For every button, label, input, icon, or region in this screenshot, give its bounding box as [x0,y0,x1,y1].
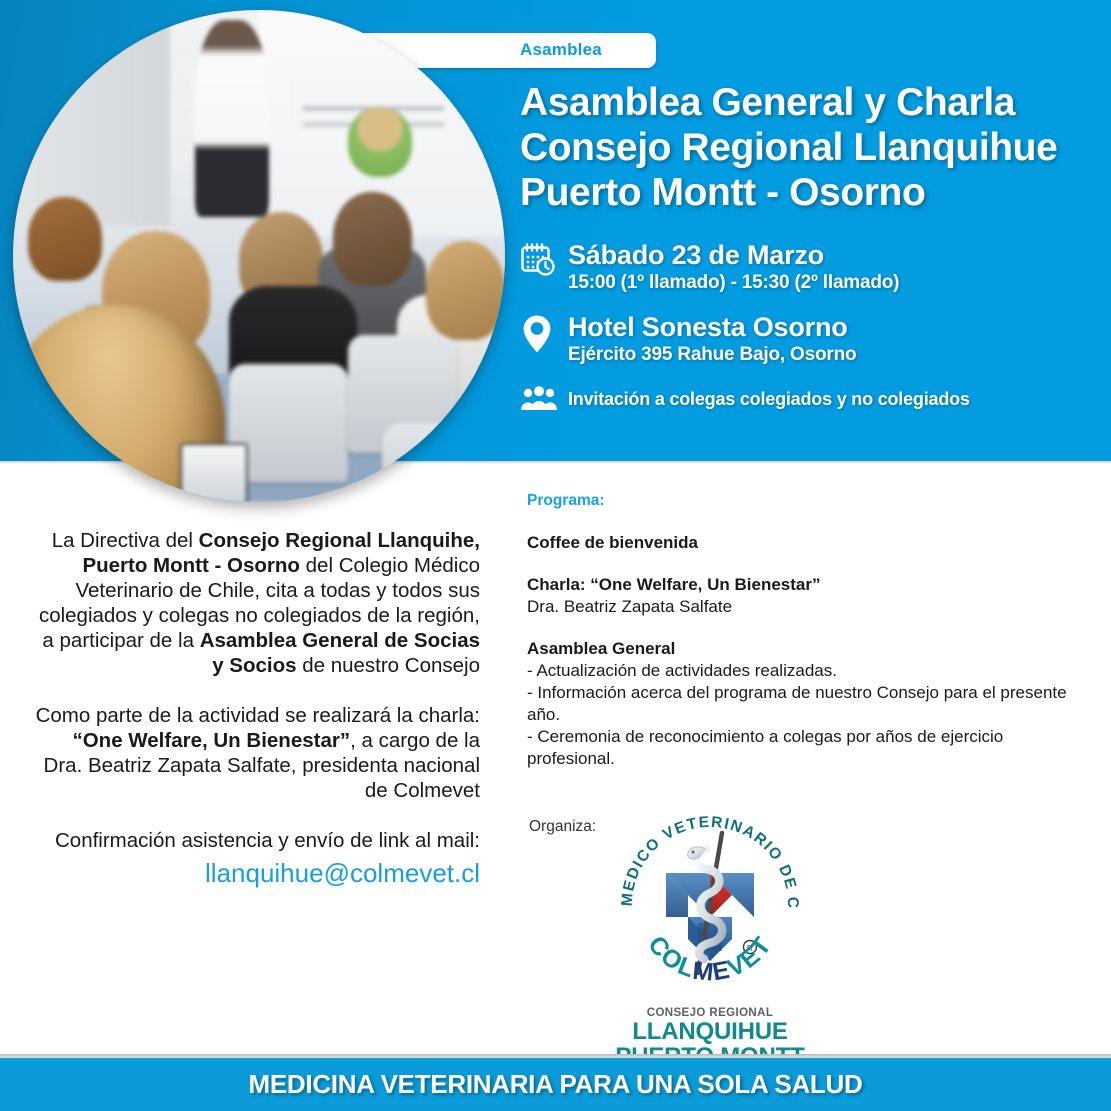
program-item-2-speaker: Dra. Beatriz Zapata Salfate [527,596,1067,618]
event-photo-scene [13,10,505,502]
calendar-clock-icon [520,240,568,278]
photo-smartphone [180,443,248,502]
program-heading: Programa: [527,492,1067,510]
event-venue-row: Hotel Sonesta Osorno Ejército 395 Rahue … [520,312,1110,367]
program-section: Programa: Coffee de bienvenida Charla: “… [527,492,1067,790]
p1-part-a: La Directiva del [52,529,199,552]
asamblea-badge-label: Asamblea [520,40,720,60]
location-pin-icon [520,312,568,354]
program-item-1: Coffee de bienvenida [527,532,1067,554]
program-item-3-bullet-2: - Información acerca del programa de nue… [527,682,1067,726]
event-date-sub: 15:00 (1º llamado) - 15:30 (2º llamado) [568,271,899,295]
program-item-3: Asamblea General - Actualización de acti… [527,638,1067,770]
event-audience-text: Invitación a colegas colegiados y no col… [568,384,970,410]
rsvp-email-link[interactable]: llanquihue@colmevet.cl [30,857,480,889]
rsvp-label: Confirmación asistencia y envío de link … [55,829,480,852]
program-item-2-title: Charla: “One Welfare, Un Bienestar” [527,574,1067,596]
rsvp-paragraph: Confirmación asistencia y envío de link … [30,828,480,889]
event-audience-row: Invitación a colegas colegiados y no col… [520,384,1110,412]
program-item-3-bullet-3: - Ceremonia de reconocimiento a colegas … [527,726,1067,770]
colmevet-logo: COLEGIO MEDICO VETERINARIO DE CHILE A.G.… [585,805,835,1094]
photo-attendee-head [333,192,412,285]
title-line-3: Puerto Montt - Osorno [520,170,1100,215]
program-item-3-title: Asamblea General [527,638,1067,660]
photo-attendee-head [426,241,505,339]
p2-part-a: Como parte de la actividad se realizará … [36,704,480,727]
title-line-1: Asamblea General y Charla [520,80,1100,125]
photo-speaker-figure [195,20,269,217]
event-photo [13,10,505,502]
event-date-row: Sábado 23 de Marzo 15:00 (1º llamado) - … [520,240,1110,295]
invitation-paragraph-1: La Directiva del Consejo Regional Llanqu… [30,528,480,678]
footer-slogan: MEDICINA VETERINARIA PARA UNA SOLA SALUD [249,1069,863,1100]
event-date-text: Sábado 23 de Marzo 15:00 (1º llamado) - … [568,240,899,295]
people-group-icon [520,384,568,412]
poster-root: Asamblea Asambl [0,0,1111,1111]
footer-banner: MEDICINA VETERINARIA PARA UNA SOLA SALUD [0,1058,1111,1111]
program-item-1-title: Coffee de bienvenida [527,532,1067,554]
title-line-2: Consejo Regional Llanquihue [520,125,1100,170]
p1-part-e: de nuestro Consejo [297,654,480,677]
program-item-2: Charla: “One Welfare, Un Bienestar” Dra.… [527,574,1067,618]
invitation-text: La Directiva del Consejo Regional Llanqu… [30,528,480,889]
photo-attendee-head [28,197,102,281]
invitation-paragraph-2: Como parte de la actividad se realizará … [30,703,480,803]
colmevet-logo-mark: COLEGIO MEDICO VETERINARIO DE CHILE A.G.… [610,805,810,1005]
photo-chair [382,423,505,502]
photo-panelist-figure [348,108,412,177]
council-line-1: LLANQUIHUE [585,1019,835,1044]
program-item-3-bullet-1: - Actualización de actividades realizada… [527,660,1067,682]
p2-part-b: “One Welfare, Un Bienestar” [72,729,350,752]
event-venue-text: Hotel Sonesta Osorno Ejército 395 Rahue … [568,312,856,367]
event-details: Sábado 23 de Marzo 15:00 (1º llamado) - … [520,240,1110,429]
event-venue-main: Hotel Sonesta Osorno [568,312,856,343]
poster-title: Asamblea General y Charla Consejo Region… [520,80,1100,215]
event-venue-sub: Ejército 395 Rahue Bajo, Osorno [568,343,856,367]
photo-wall-left [13,10,170,226]
event-date-main: Sábado 23 de Marzo [568,240,899,271]
